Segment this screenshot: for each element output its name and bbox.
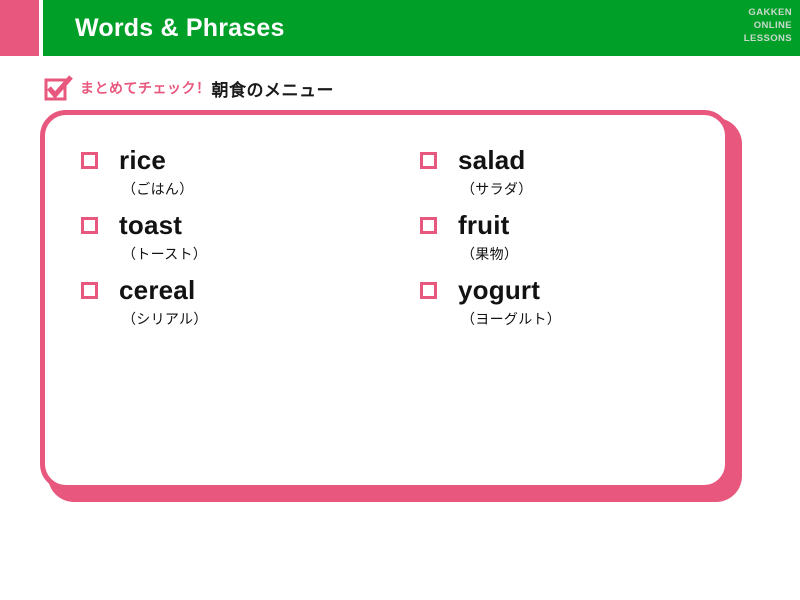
word-item[interactable]: toast （トースト）: [81, 208, 385, 263]
word-japanese: （果物）: [461, 245, 725, 263]
word-row: toast: [81, 208, 385, 242]
unchecked-checkbox-icon[interactable]: [420, 152, 437, 169]
brand-line-1: GAKKEN: [714, 6, 792, 19]
word-english: cereal: [119, 275, 195, 305]
word-row: salad: [420, 143, 725, 177]
unchecked-checkbox-icon[interactable]: [420, 217, 437, 234]
page-header: Words & Phrases GAKKEN ONLINE LESSONS: [0, 0, 800, 56]
word-english: yogurt: [458, 275, 540, 305]
word-japanese: （サラダ）: [461, 180, 725, 198]
word-japanese: （トースト）: [122, 245, 385, 263]
word-japanese: （ヨーグルト）: [461, 310, 725, 328]
word-item[interactable]: salad （サラダ）: [420, 143, 725, 198]
word-column-right: salad （サラダ） fruit （果物） yogurt: [385, 143, 725, 338]
section-heading-black-label: 朝食のメニュー: [212, 76, 335, 101]
word-row: yogurt: [420, 273, 725, 307]
unchecked-checkbox-icon[interactable]: [81, 152, 98, 169]
word-columns: rice （ごはん） toast （トースト） cereal: [45, 143, 725, 338]
word-japanese: （シリアル）: [122, 310, 385, 328]
word-english: toast: [119, 210, 182, 240]
word-item[interactable]: fruit （果物）: [420, 208, 725, 263]
word-list-card: rice （ごはん） toast （トースト） cereal: [40, 110, 750, 510]
word-row: rice: [81, 143, 385, 177]
word-item[interactable]: cereal （シリアル）: [81, 273, 385, 328]
word-column-left: rice （ごはん） toast （トースト） cereal: [45, 143, 385, 338]
word-japanese: （ごはん）: [122, 180, 385, 198]
unchecked-checkbox-icon[interactable]: [81, 217, 98, 234]
section-heading: まとめてチェック！ 朝食のメニュー: [44, 74, 334, 102]
unchecked-checkbox-icon[interactable]: [420, 282, 437, 299]
word-row: cereal: [81, 273, 385, 307]
header-accent-block: [0, 0, 39, 56]
word-english: fruit: [458, 210, 510, 240]
word-item[interactable]: yogurt （ヨーグルト）: [420, 273, 725, 328]
section-heading-pink-label: まとめてチェック！: [80, 78, 211, 98]
word-english: rice: [119, 145, 166, 175]
word-english: salad: [458, 145, 526, 175]
card-body: rice （ごはん） toast （トースト） cereal: [40, 110, 730, 490]
checked-checkbox-icon: [44, 75, 74, 101]
word-item[interactable]: rice （ごはん）: [81, 143, 385, 198]
unchecked-checkbox-icon[interactable]: [81, 282, 98, 299]
brand-line-2: ONLINE: [714, 19, 792, 32]
page-title: Words & Phrases: [75, 13, 285, 43]
brand-line-3: LESSONS: [714, 32, 792, 45]
word-row: fruit: [420, 208, 725, 242]
brand-logo: GAKKEN ONLINE LESSONS: [714, 6, 792, 45]
